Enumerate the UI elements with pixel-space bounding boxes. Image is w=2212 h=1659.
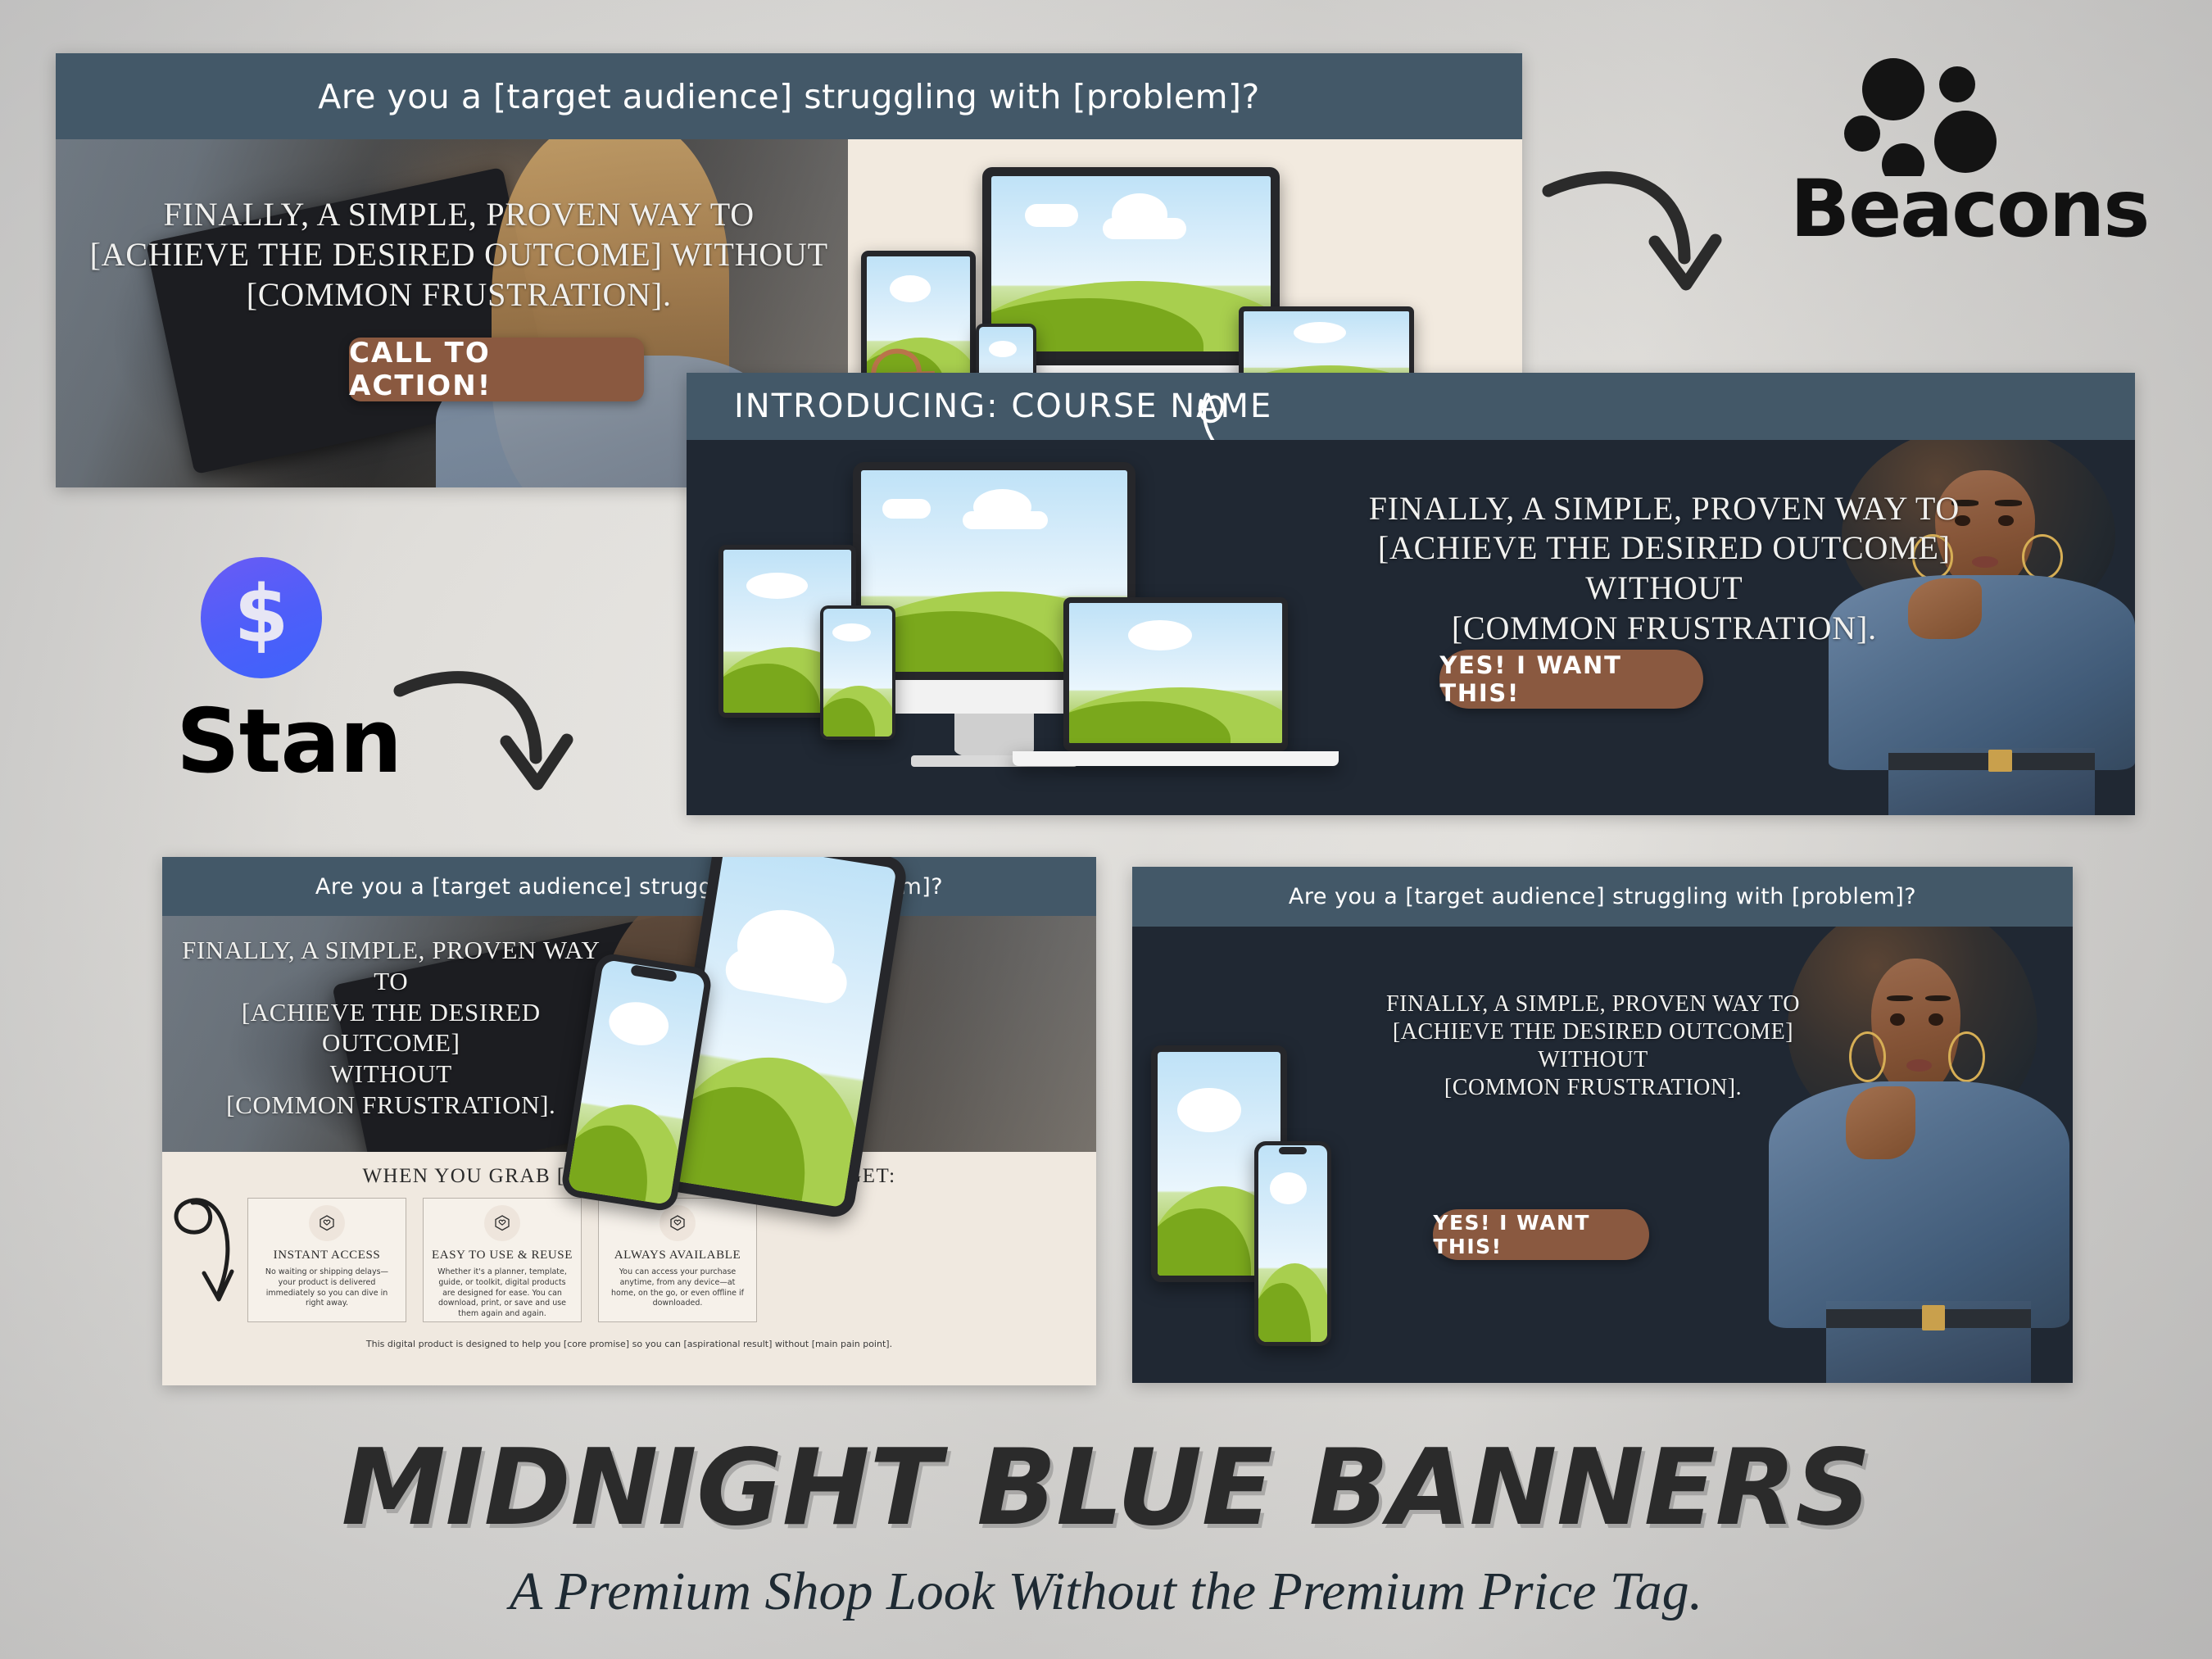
banner2-cta-button[interactable]: YES! I WANT THIS! — [1439, 650, 1703, 709]
beacons-wordmark: Beacons — [1790, 172, 2148, 247]
feature-card: INSTANT ACCESS No waiting or shipping de… — [247, 1198, 406, 1322]
banner2-hero: FINALLY, A SIMPLE, PROVEN WAY TO [ACHIEV… — [687, 440, 2135, 815]
banner4-headline-line-2: [ACHIEVE THE DESIRED OUTCOME] — [1358, 1018, 1829, 1046]
banner4-hero: FINALLY, A SIMPLE, PROVEN WAY TO [ACHIEV… — [1132, 927, 2073, 1383]
banner4-cta-button[interactable]: YES! I WANT THIS! — [1433, 1209, 1649, 1260]
stan-logo: $ Stan — [201, 557, 401, 786]
banner3-headline: FINALLY, A SIMPLE, PROVEN WAY TO [ACHIEV… — [171, 935, 610, 1121]
banner1-headline-line-3: [COMMON FRUSTRATION]. — [85, 275, 833, 315]
feature-title: INSTANT ACCESS — [274, 1249, 381, 1262]
arrow-to-stan-icon — [392, 660, 580, 823]
banner3-headline-line-1: FINALLY, A SIMPLE, PROVEN WAY TO — [171, 935, 610, 997]
laptop-base — [1013, 751, 1339, 766]
banner3-headline-line-3: WITHOUT — [171, 1058, 610, 1090]
laptop-mockup — [1063, 597, 1288, 751]
arrow-to-beacons-icon — [1540, 160, 1729, 324]
banner4-header-bar: Are you a [target audience] struggling w… — [1132, 867, 2073, 927]
banner-promo-bottom-left[interactable]: Are you a [target audience] struggling w… — [162, 857, 1096, 1385]
feature-card: EASY TO USE & REUSE Whether it's a plann… — [423, 1198, 582, 1322]
banner1-cta-button[interactable]: CALL TO ACTION! — [349, 338, 644, 401]
page-subtitle: A Premium Shop Look Without the Premium … — [0, 1561, 2212, 1623]
feature-title: EASY TO USE & REUSE — [432, 1249, 573, 1262]
banner2-headline: FINALLY, A SIMPLE, PROVEN WAY TO [ACHIEV… — [1324, 489, 2005, 649]
beacons-dots-icon — [1790, 45, 2036, 176]
phone-notch — [1279, 1147, 1307, 1154]
banner2-headline-line-1: FINALLY, A SIMPLE, PROVEN WAY TO — [1324, 489, 2005, 529]
banner2-cta-label: YES! I WANT THIS! — [1439, 651, 1703, 707]
feature-card: ALWAYS AVAILABLE You can access your pur… — [598, 1198, 757, 1322]
banner3-headline-line-2: [ACHIEVE THE DESIRED OUTCOME] — [171, 997, 610, 1059]
woman-belt-buckle — [1988, 750, 2011, 772]
banner4-headline-line-4: [COMMON FRUSTRATION]. — [1358, 1074, 1829, 1102]
banner1-headline-line-1: FINALLY, A SIMPLE, PROVEN WAY TO — [85, 195, 833, 235]
woman-shoulder-skin — [1846, 1086, 1916, 1159]
package-heart-icon — [492, 1213, 513, 1234]
phone-mockup — [1254, 1141, 1331, 1347]
stan-dollar-symbol: $ — [234, 569, 289, 660]
beacons-logo: Beacons — [1790, 45, 2148, 247]
page-title: MIDNIGHT BLUE BANNERS — [0, 1427, 2212, 1549]
feature-icon-circle — [309, 1205, 345, 1241]
stan-wordmark: Stan — [176, 698, 401, 786]
feature-icon-circle — [484, 1205, 520, 1241]
package-heart-icon — [667, 1213, 688, 1234]
banner3-headline-line-4: [COMMON FRUSTRATION]. — [171, 1090, 610, 1121]
banner1-header-bar: Are you a [target audience] struggling w… — [56, 53, 1522, 139]
banner-promo-bottom-right[interactable]: Are you a [target audience] struggling w… — [1132, 867, 2073, 1383]
woman-sweater — [1769, 1081, 2069, 1328]
banner4-header-text: Are you a [target audience] struggling w… — [1289, 884, 1916, 909]
woman-belt-buckle — [1922, 1305, 1944, 1330]
feature-title: ALWAYS AVAILABLE — [614, 1249, 741, 1262]
banner2-header-text: INTRODUCING: COURSE NAME — [734, 388, 1272, 425]
woman-face — [1871, 959, 1960, 1095]
feature-body: You can access your purchase anytime, fr… — [599, 1267, 756, 1309]
banner4-headline-line-1: FINALLY, A SIMPLE, PROVEN WAY TO — [1358, 990, 1829, 1018]
woman-earring — [1849, 1031, 1886, 1082]
feature-icon-circle — [660, 1205, 696, 1241]
stan-dollar-coin-icon: $ — [201, 557, 322, 678]
feature-body: No waiting or shipping delays—your produ… — [248, 1267, 406, 1309]
banner2-header-bar: INTRODUCING: COURSE NAME — [687, 373, 2135, 440]
banner4-headline-line-3: WITHOUT — [1358, 1046, 1829, 1074]
feature-body: Whether it's a planner, template, guide,… — [424, 1267, 581, 1320]
banner4-headline: FINALLY, A SIMPLE, PROVEN WAY TO [ACHIEV… — [1358, 990, 1829, 1103]
package-heart-icon — [316, 1213, 338, 1234]
banner1-headline-line-2: [ACHIEVE THE DESIRED OUTCOME] WITHOUT — [85, 235, 833, 275]
banner3-header-bar: Are you a [target audience] struggling w… — [162, 857, 1096, 916]
banner1-header-text: Are you a [target audience] struggling w… — [318, 77, 1260, 116]
banner1-headline: FINALLY, A SIMPLE, PROVEN WAY TO [ACHIEV… — [85, 195, 833, 315]
banner4-cta-label: YES! I WANT THIS! — [1433, 1211, 1649, 1258]
banner2-headline-line-2: [ACHIEVE THE DESIRED OUTCOME] WITHOUT — [1324, 528, 2005, 609]
woman-earring — [1948, 1031, 1985, 1082]
phone-mockup — [820, 605, 895, 741]
banner1-cta-label: CALL TO ACTION! — [349, 337, 644, 402]
woman-earring — [2022, 534, 2064, 580]
banner3-footnote: This digital product is designed to help… — [162, 1339, 1096, 1351]
banner2-headline-line-3: [COMMON FRUSTRATION]. — [1324, 609, 2005, 649]
banner-promo-middle[interactable]: INTRODUCING: COURSE NAME — [687, 373, 2135, 815]
